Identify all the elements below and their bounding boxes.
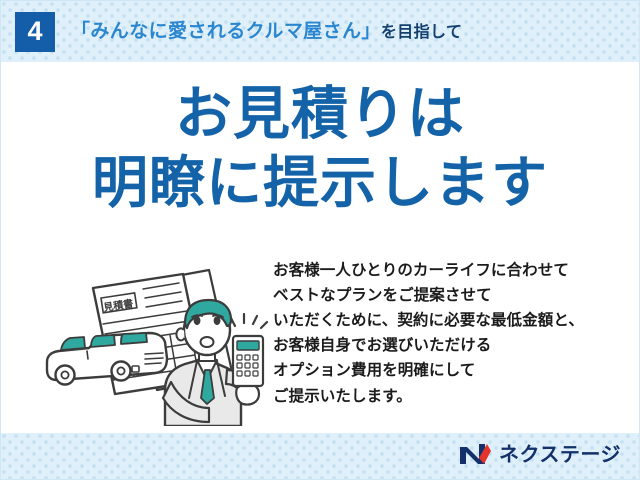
headline-block: お見積りは 明瞭に提示します <box>1 86 639 212</box>
body-copy-line-1: お客様一人ひとりのカーライフに合わせて <box>273 258 633 283</box>
headline-line-2: 明瞭に提示します <box>1 156 639 212</box>
headline-line-1: お見積りは <box>1 86 639 143</box>
header-title-tail: を目指して <box>381 22 463 41</box>
header-title-quoted: 「みんなに愛されるクルマ屋さん」 <box>71 20 381 42</box>
header-title: 「みんなに愛されるクルマ屋さん」を目指して <box>71 22 462 41</box>
body-copy-line-3: いただくために、契約に必要な最低金額と、 <box>273 308 633 333</box>
header-bar: 4 「みんなに愛されるクルマ屋さん」を目指して <box>1 1 639 62</box>
sparkle-icon <box>231 314 267 328</box>
content-panel: お見積りは 明瞭に提示します お客様一人ひとりのカーライフに合わせて ベストなプ… <box>1 62 639 433</box>
illustration-group: 見積書 <box>37 258 269 426</box>
body-copy-line-6: ご提示いたします。 <box>273 384 633 409</box>
step-number-badge: 4 <box>15 12 55 52</box>
body-copy-line-2: ベストなプランをご提案させて <box>273 283 633 308</box>
calculator-icon <box>233 336 263 386</box>
illustration-svg: 見積書 <box>37 258 269 426</box>
nextage-n-logo-icon <box>458 442 492 466</box>
promo-banner: 4 「みんなに愛されるクルマ屋さん」を目指して お見積りは 明瞭に提示します お… <box>0 0 640 480</box>
body-copy: お客様一人ひとりのカーライフに合わせて ベストなプランをご提案させて いただくた… <box>273 258 633 409</box>
body-copy-line-4: お客様自身でお選びいただける <box>273 333 633 358</box>
brand-wordmark: ネクステージ <box>499 444 621 464</box>
brand-logo: ネクステージ <box>458 439 621 469</box>
body-copy-line-5: オプション費用を明確にして <box>273 358 633 383</box>
